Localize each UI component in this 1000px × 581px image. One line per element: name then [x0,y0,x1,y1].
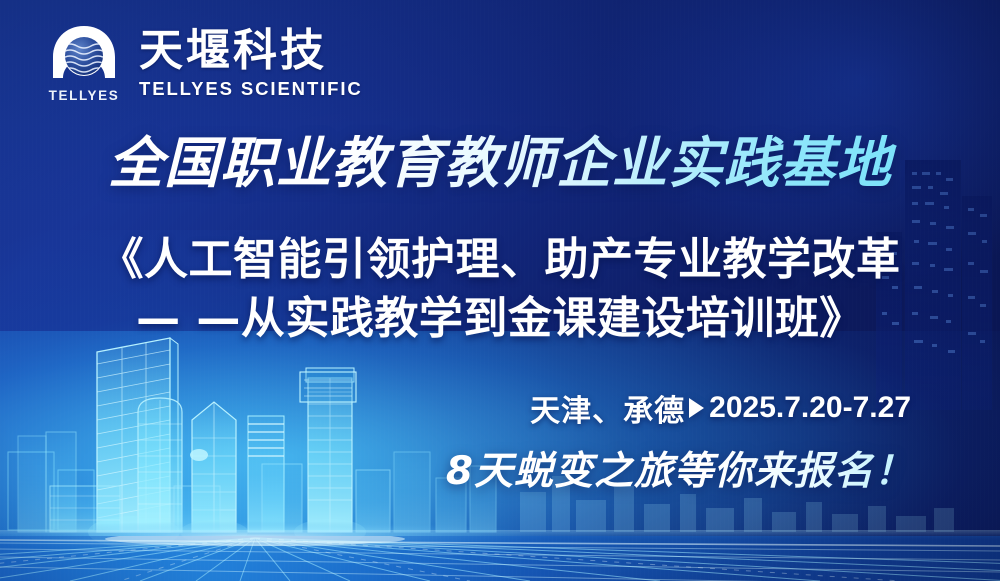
tellyes-dome-icon: TELLYES [43,26,125,110]
subtitle-line-1: 《人工智能引领护理、助产专业教学改革 [100,234,901,285]
course-subtitle: 《人工智能引领护理、助产专业教学改革 — —从实践教学到金课建设培训班》 [0,230,1000,348]
subtitle-line-2: — —从实践教学到金课建设培训班》 [0,289,1000,348]
promo-banner: TELLYES 天堰科技 TELLYES SCIENTIFIC 全国职业教育教师… [0,0,1000,581]
event-tagline: 8天蜕变之旅等你来报名！ [446,440,914,496]
page-title: 全国职业教育教师企业实践基地 [0,132,1000,194]
brand-name-en: TELLYES SCIENTIFIC [139,78,363,100]
brand-name-cn: 天堰科技 [139,27,363,75]
event-date-row: 天津、承德 2025.7.20-7.27 [530,386,911,430]
event-dates: 2025.7.20-7.27 [709,391,911,425]
brand-logo: TELLYES 天堰科技 TELLYES SCIENTIFIC [43,26,363,110]
play-triangle-icon [689,398,704,418]
logo-tellyes-wordmark: TELLYES [43,88,125,103]
brand-text: 天堰科技 TELLYES SCIENTIFIC [139,26,363,100]
event-locations: 天津、承德 [530,386,685,430]
